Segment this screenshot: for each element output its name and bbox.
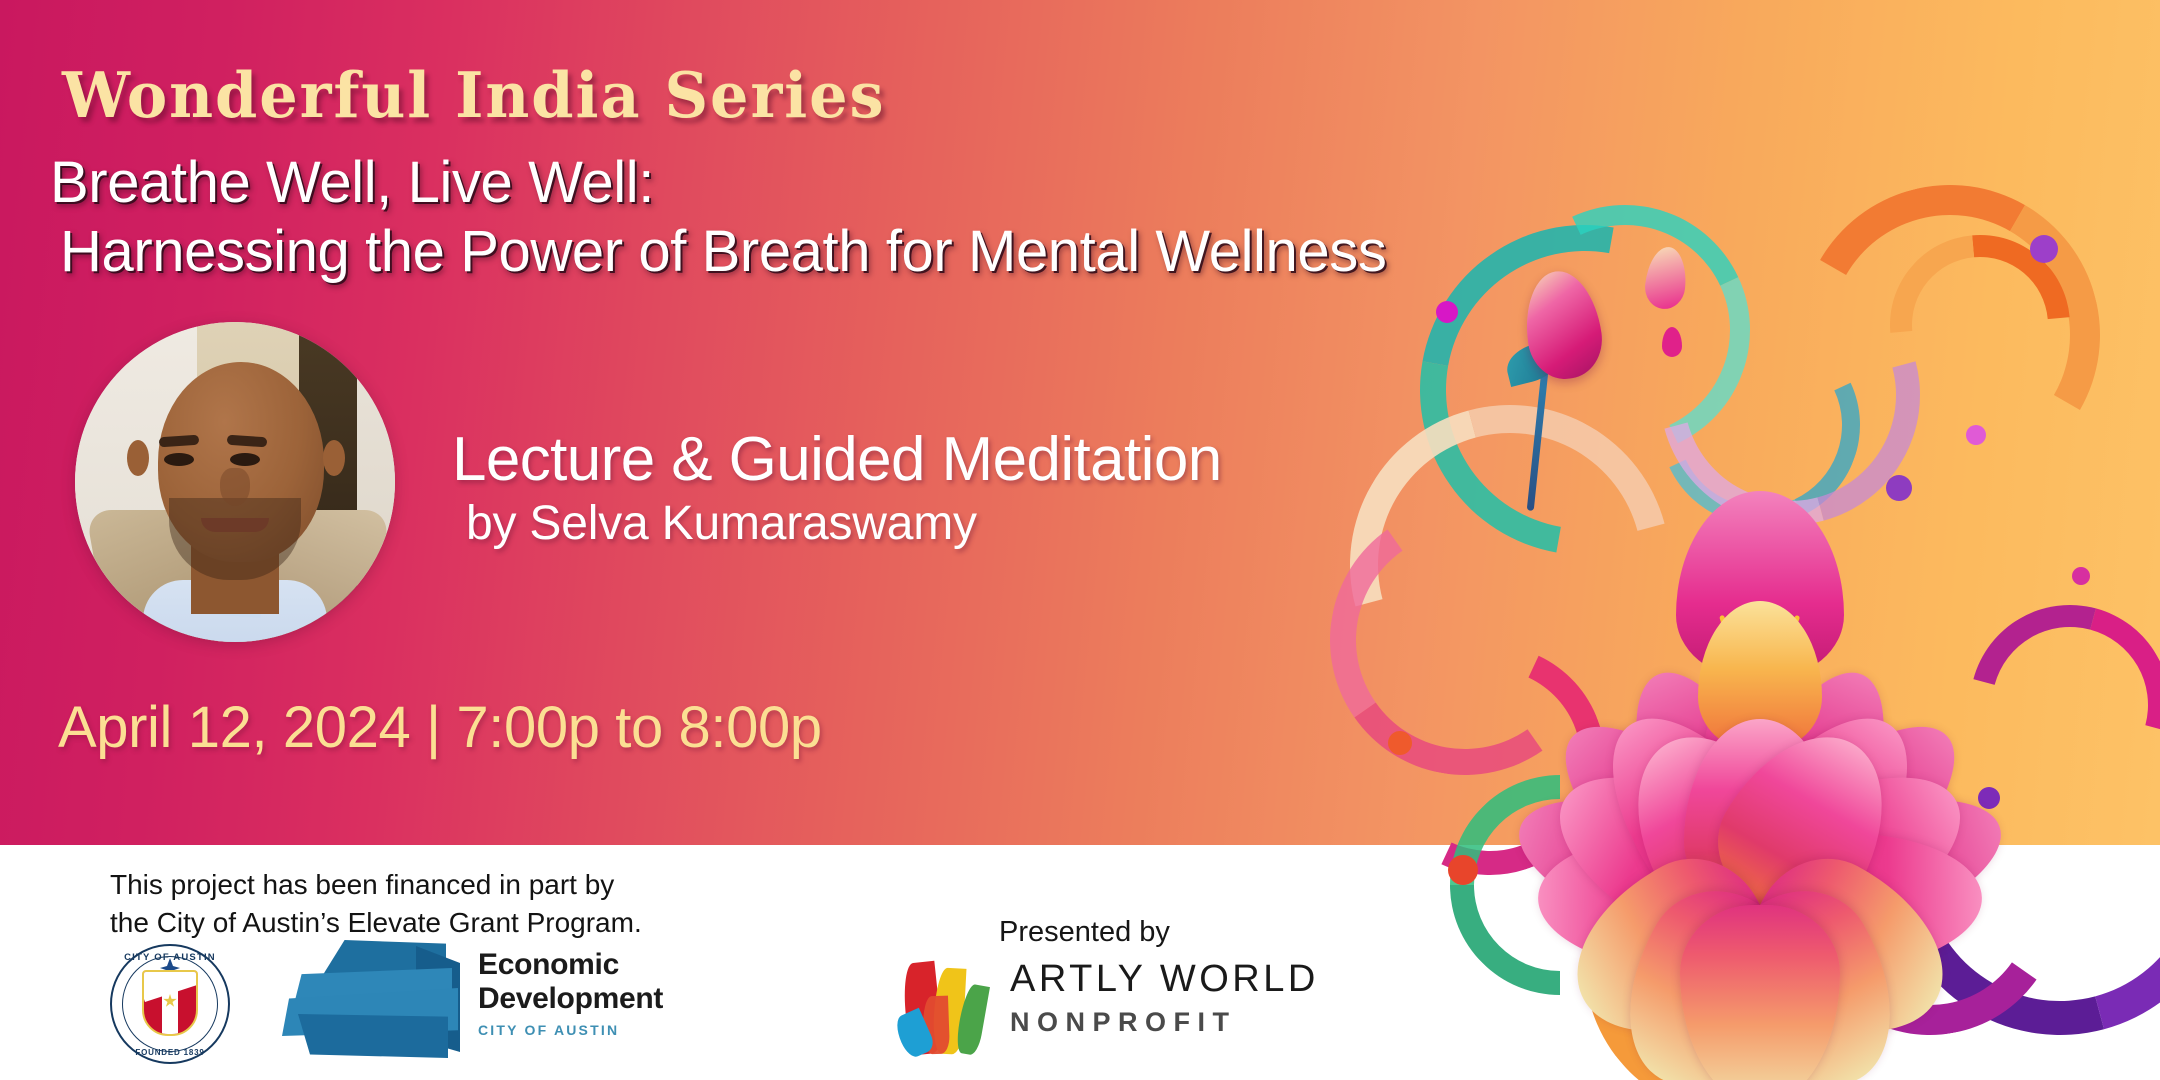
portrait-eye	[164, 453, 194, 466]
ecodev-line-2: Development	[478, 982, 663, 1016]
event-flyer: Wonderful India Series Breathe Well, Liv…	[0, 0, 2160, 1080]
city-of-austin-seal-logo: CITY OF AUSTIN FOUNDED 1839	[110, 944, 230, 1064]
talk-title: Breathe Well, Live Well: Harnessing the …	[50, 148, 1850, 286]
funding-line-1: This project has been financed in part b…	[110, 866, 642, 904]
portrait-ear	[323, 440, 345, 476]
paint-drop	[1662, 327, 1682, 357]
ecodev-line-3: CITY OF AUSTIN	[478, 1022, 663, 1038]
artly-type: NONPROFIT	[1010, 1007, 1319, 1038]
paint-dot	[1436, 301, 1458, 323]
paint-dot	[1388, 731, 1412, 755]
funding-statement: This project has been financed in part b…	[110, 866, 642, 942]
artly-wordmark: ARTLY WORLD NONPROFIT	[1010, 958, 1319, 1038]
ecodev-wordmark: Economic Development CITY OF AUSTIN	[478, 948, 663, 1038]
artly-name: ARTLY WORLD	[1010, 958, 1319, 1001]
talk-title-line-1: Breathe Well, Live Well:	[50, 150, 654, 215]
speaker-portrait	[75, 322, 395, 642]
lecture-presenter: by Selva Kumaraswamy	[466, 496, 977, 551]
economic-development-logo: Economic Development CITY OF AUSTIN	[282, 934, 622, 1066]
lotus-artwork	[1330, 175, 2160, 1080]
artly-world-nonprofit-logo: ARTLY WORLD NONPROFIT	[906, 950, 1346, 1060]
series-title: Wonderful India Series	[62, 58, 886, 132]
lotus-flower	[1440, 365, 2080, 965]
lecture-title: Lecture & Guided Meditation	[452, 424, 1222, 495]
flame-icon	[906, 950, 992, 1058]
portrait-eye	[230, 453, 260, 466]
ecodev-line-1: Economic	[478, 948, 663, 982]
seal-bottom-text: FOUNDED 1839	[110, 1048, 230, 1057]
portrait-mouth	[201, 518, 269, 532]
paint-dot	[2030, 235, 2058, 263]
presented-by-label: Presented by	[999, 916, 1170, 949]
portrait-ear	[127, 440, 149, 476]
seal-shield-icon	[142, 970, 198, 1036]
event-date-time: April 12, 2024 | 7:00p to 8:00p	[58, 694, 822, 761]
portrait-nose	[220, 468, 250, 506]
talk-title-line-2: Harnessing the Power of Breath for Menta…	[50, 217, 1850, 286]
ecodev-mark-icon	[282, 940, 468, 1060]
